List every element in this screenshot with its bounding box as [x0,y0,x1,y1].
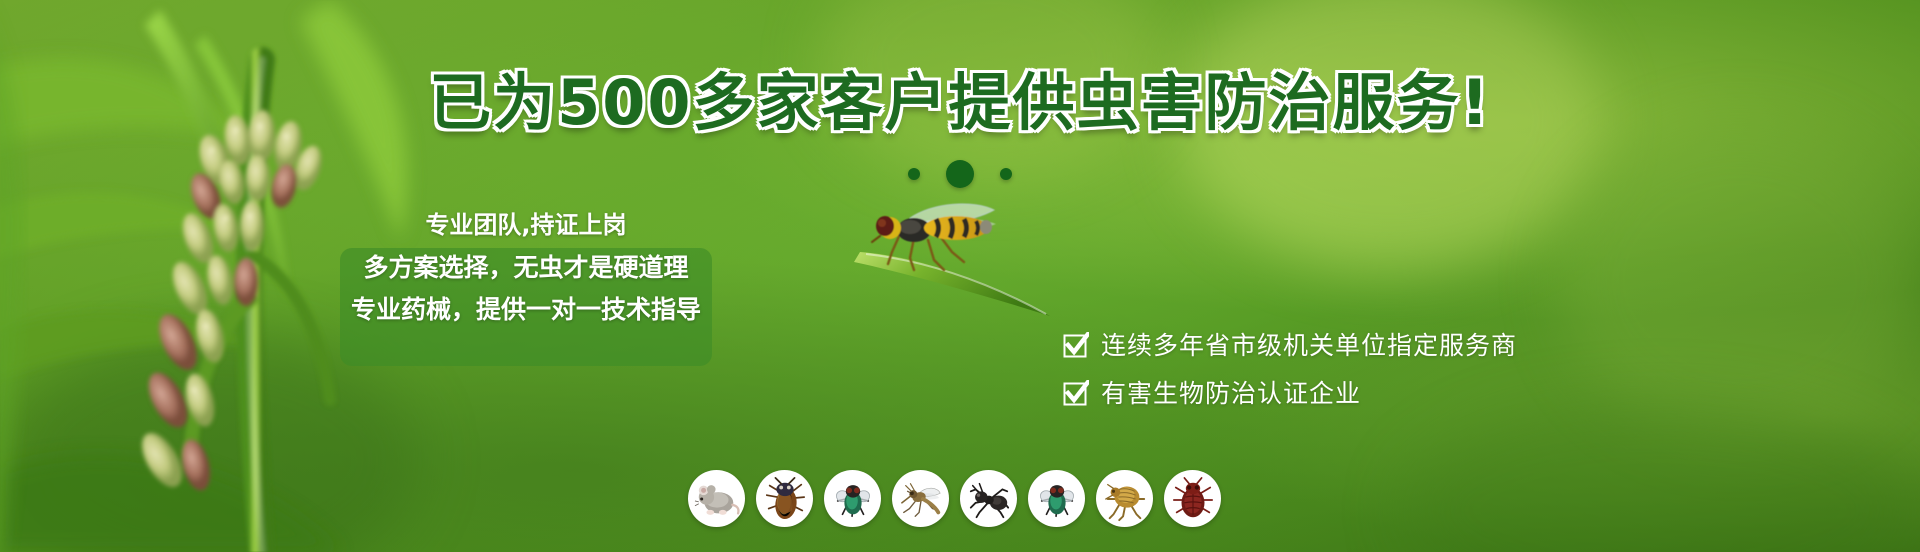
page-title: 已为500多家客户提供虫害防治服务! [0,72,1920,134]
feature-label: 有害生物防治认证企业 [1101,381,1361,406]
pest-icon-row [688,470,1221,527]
decor-dot-small-right [1000,168,1012,180]
hoverfly-photo [840,190,1070,320]
feature-item: 有害生物防治认证企业 [1063,380,1517,406]
promo-line-2: 多方案选择，无虫才是硬道理 [363,254,688,283]
promo-line-3: 专业药械，提供一对一技术指导 [351,296,701,325]
checkbox-checked-icon [1063,380,1089,406]
flea-icon[interactable] [1096,470,1153,527]
decor-dots-row [0,160,1920,188]
checkbox-checked-icon [1063,332,1089,358]
promo-line-1: 专业团队,持证上岗 [425,212,626,240]
promo-text-group: 专业团队,持证上岗 多方案选择，无虫才是硬道理 专业药械，提供一对一技术指导 [340,212,712,325]
mosquito-icon[interactable] [892,470,949,527]
fly-icon-2[interactable] [1028,470,1085,527]
decor-dot-small-left [908,168,920,180]
mouse-icon[interactable] [688,470,745,527]
cockroach-icon[interactable] [756,470,813,527]
feature-label: 连续多年省市级机关单位指定服务商 [1101,333,1517,358]
decor-dot-large-center [946,160,974,188]
feature-list: 连续多年省市级机关单位指定服务商 有害生物防治认证企业 [1063,332,1517,406]
pest-control-hero-banner: 已为500多家客户提供虫害防治服务! 专业团队,持证上岗 多方案选择，无虫才是硬… [0,0,1920,552]
ant-icon[interactable] [960,470,1017,527]
feature-item: 连续多年省市级机关单位指定服务商 [1063,332,1517,358]
bedbug-icon[interactable] [1164,470,1221,527]
fly-icon[interactable] [824,470,881,527]
